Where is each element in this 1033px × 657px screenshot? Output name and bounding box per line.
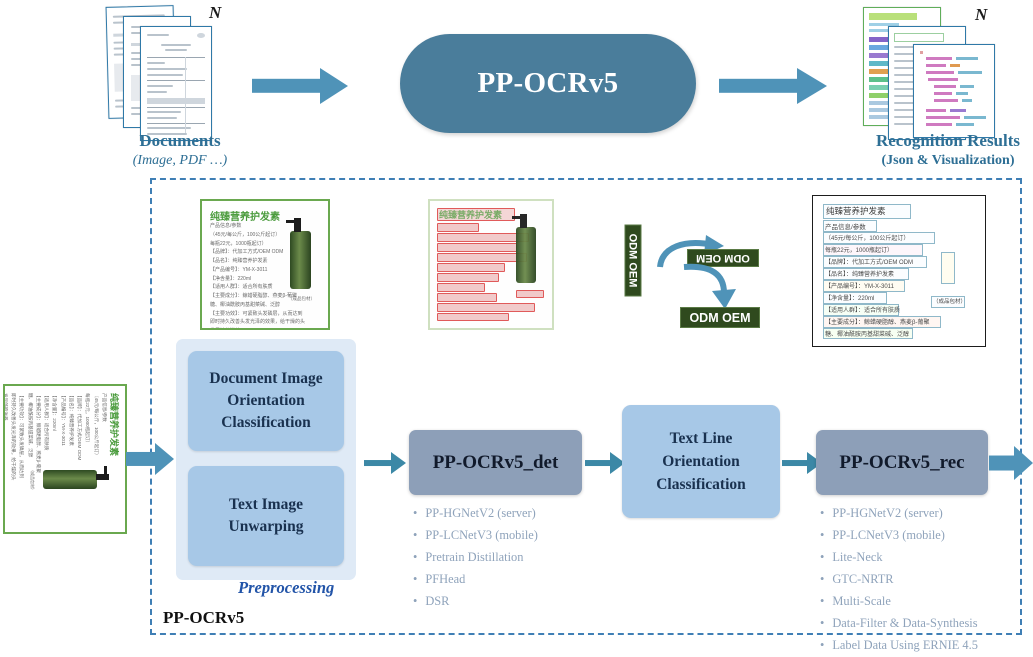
sample-detection-result: 纯臻营养护发素: [428, 199, 554, 330]
arrow-model-to-results: [719, 68, 827, 104]
rec-bullet-2: Lite-Neck: [820, 546, 978, 568]
pipeline-title: PP-OCRv5: [163, 608, 244, 628]
odm-oem-chip-corrected: ODM OEM: [680, 307, 760, 328]
rec-bullet-4: Multi-Scale: [820, 590, 978, 612]
det-bullet-1: PP-LCNetV3 (mobile): [413, 524, 538, 546]
sample-product-bottle: [290, 231, 311, 289]
sample-recognition-result: 纯臻营养护发素 产品信息/参数 （45元/每公斤，100公斤起订） 每瓶22元，…: [812, 195, 986, 347]
det-bullet-3: PFHead: [413, 568, 538, 590]
rotation-arrow-2: [680, 263, 742, 311]
input-stack-label: Documents: [120, 131, 240, 151]
rec-bullet-3: GTC-NRTR: [820, 568, 978, 590]
pp-ocrv5-main-block: PP-OCRv5: [400, 34, 696, 133]
det-bullet-4: DSR: [413, 590, 538, 612]
result-page-json: [913, 44, 995, 138]
doc-orient-line3: Classification: [221, 412, 311, 434]
output-count-symbol: N: [975, 5, 987, 25]
arrow-rec-output: [989, 446, 1033, 480]
arrow-det-to-textline-orientation: [585, 452, 625, 474]
arrow-preprocessing-to-det: [364, 452, 406, 474]
doc-image-orientation-classification-card[interactable]: Document Image Orientation Classificatio…: [188, 351, 344, 451]
recognition-feature-list: PP-HGNetV2 (server) PP-LCNetV3 (mobile) …: [820, 502, 978, 657]
sample-product-title: 纯臻营养护发素: [210, 208, 280, 223]
unwarp-line1: Text Image: [229, 494, 303, 516]
odm-oem-chip-vertical: ODM OEM: [625, 225, 642, 297]
input-documents-stack: [107, 4, 207, 132]
det-bullet-2: Pretrain Distillation: [413, 546, 538, 568]
sample-original-document: 纯臻营养护发素 产品信息/参数 （45元/每公斤，100公斤起订） 每瓶22元，…: [200, 199, 330, 330]
detection-feature-list: PP-HGNetV2 (server) PP-LCNetV3 (mobile) …: [413, 502, 538, 612]
det-bullet-0: PP-HGNetV2 (server): [413, 502, 538, 524]
unwarp-line2: Unwarping: [229, 516, 304, 538]
output-results-stack: [863, 4, 993, 132]
tlo-line3: Classification: [656, 473, 746, 496]
preprocessing-group: Document Image Orientation Classificatio…: [176, 339, 356, 580]
output-stack-sublabel: (Json & Visualization): [868, 153, 1028, 169]
pp-ocrv5-rec-block[interactable]: PP-OCRv5_rec: [816, 430, 988, 495]
preprocessing-label: Preprocessing: [238, 578, 334, 598]
tlo-line1: Text Line: [670, 427, 733, 450]
doc-orient-line2: Orientation: [227, 390, 305, 412]
text-line-orientation-classification-block[interactable]: Text Line Orientation Classification: [622, 405, 780, 518]
rec-bullet-6: Label Data Using ERNIE 4.5: [820, 634, 978, 656]
document-page-front: [140, 26, 212, 141]
rotated-input-sample: 纯臻营养护发素 产品信息/参数 （45元/每公斤，100公斤起订） 每瓶22元，…: [3, 384, 127, 534]
rec-bullet-5: Data-Filter & Data-Synthesis: [820, 612, 978, 634]
arrow-documents-to-model: [252, 68, 348, 104]
output-stack-label: Recognition Results: [868, 131, 1028, 151]
input-stack-sublabel: (Image, PDF …): [120, 153, 240, 169]
tlo-line2: Orientation: [662, 450, 740, 473]
arrow-input-to-preprocessing: [126, 443, 174, 475]
pp-ocrv5-det-block[interactable]: PP-OCRv5_det: [409, 430, 582, 495]
rec-bullet-0: PP-HGNetV2 (server): [820, 502, 978, 524]
input-count-symbol: N: [209, 3, 221, 23]
doc-orient-line1: Document Image: [209, 368, 322, 390]
text-image-unwarping-card[interactable]: Text Image Unwarping: [188, 466, 344, 566]
rec-bullet-1: PP-LCNetV3 (mobile): [820, 524, 978, 546]
textline-orientation-illustration: ODM OEM ODM OEM ODM OEM: [610, 225, 790, 335]
